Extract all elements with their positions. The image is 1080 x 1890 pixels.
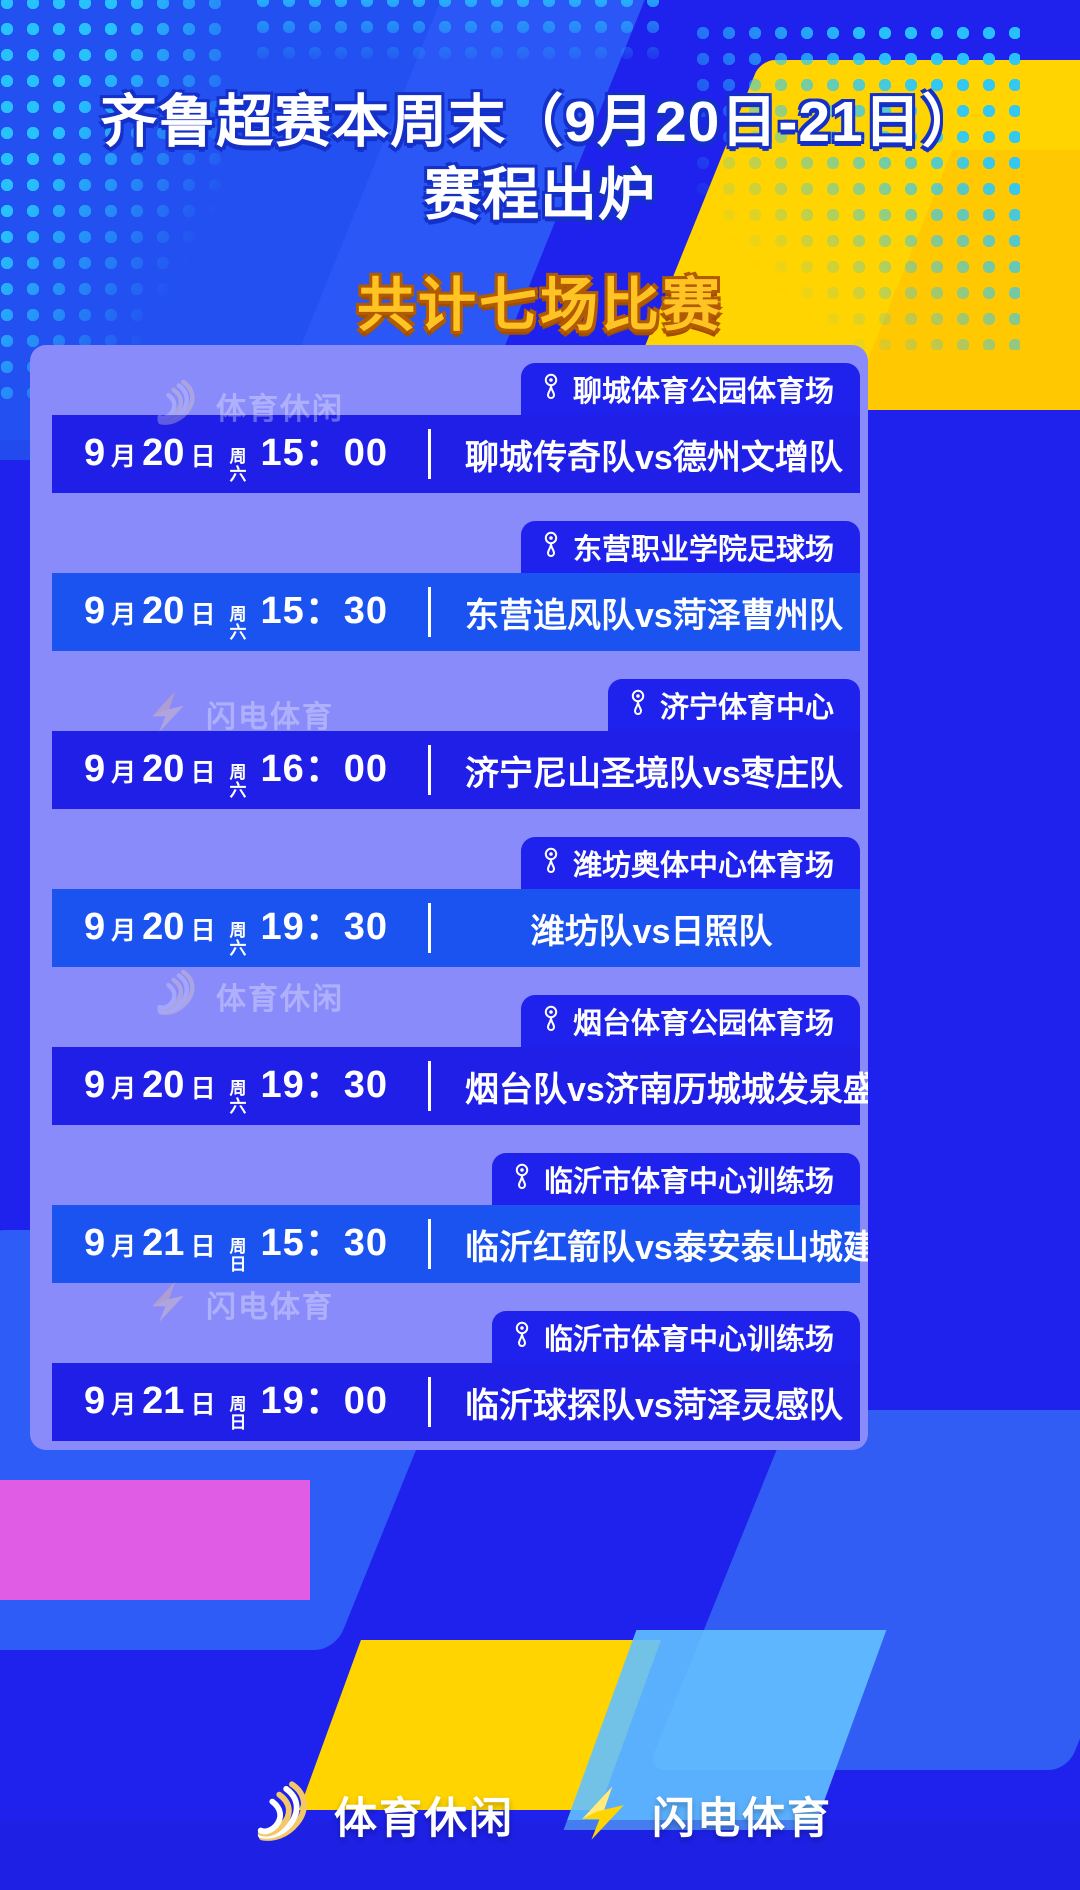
- match-row: 潍坊奥体中心体育场9月20日周六19：30潍坊队vs日照队: [30, 837, 868, 995]
- weekday-char-2: 六: [229, 940, 246, 958]
- venue-tag: 聊城体育公园体育场: [521, 363, 860, 415]
- venue-tag: 临沂市体育中心训练场: [492, 1311, 860, 1363]
- weekday-badge: 周六: [229, 606, 246, 642]
- location-pin-icon: [539, 1002, 563, 1040]
- day-unit: 日: [190, 911, 215, 947]
- weekday-char-2: 六: [229, 624, 246, 642]
- weekday-badge: 周六: [229, 764, 246, 800]
- match-row: 济宁体育中心9月20日周六16：00济宁尼山圣境队vs枣庄队: [30, 679, 868, 837]
- weekday-char-1: 周: [229, 606, 246, 624]
- month-unit: 月: [111, 437, 136, 473]
- matchup-label: 东营追风队vs菏泽曹州队: [465, 588, 865, 637]
- kickoff-time: 19：30: [260, 895, 388, 950]
- vertical-divider: [428, 1377, 431, 1427]
- match-datetime: 9月20日周六15：00: [52, 421, 388, 487]
- weekday-char-1: 周: [229, 1080, 246, 1098]
- vertical-divider: [428, 1061, 431, 1111]
- lightning-bolt-icon: [566, 1775, 640, 1854]
- match-datetime: 9月21日周日15：30: [52, 1211, 388, 1277]
- kickoff-time: 15：30: [260, 1211, 388, 1266]
- weekday-badge: 周六: [229, 1080, 246, 1116]
- match-datetime: 9月20日周六16：00: [52, 737, 388, 803]
- kickoff-time: 15：00: [260, 421, 388, 476]
- match-bar: 9月20日周六19：30潍坊队vs日照队: [52, 889, 860, 967]
- match-row: 临沂市体育中心训练场9月21日周日15：30临沂红箭队vs泰安泰山城建队: [30, 1153, 868, 1311]
- venue-label: 烟台体育公园体育场: [573, 1000, 834, 1042]
- weekday-badge: 周日: [229, 1238, 246, 1274]
- vertical-divider: [428, 1219, 431, 1269]
- venue-label: 聊城体育公园体育场: [573, 368, 834, 410]
- weekday-char-1: 周: [229, 922, 246, 940]
- venue-label: 临沂市体育中心训练场: [544, 1316, 834, 1358]
- day-number: 21: [142, 1222, 184, 1265]
- match-row: 临沂市体育中心训练场9月21日周日19：00临沂球探队vs菏泽灵感队: [30, 1311, 868, 1450]
- location-pin-icon: [539, 844, 563, 882]
- ribbon-swirl-icon: [248, 1775, 322, 1854]
- matchup-label: 聊城传奇队vs德州文增队: [465, 430, 865, 479]
- match-datetime: 9月20日周六19：30: [52, 1053, 388, 1119]
- venue-label: 济宁体育中心: [660, 684, 834, 726]
- schedule-panel: 聊城体育公园体育场9月20日周六15：00聊城传奇队vs德州文增队东营职业学院足…: [30, 345, 868, 1450]
- month-number: 9: [84, 1222, 105, 1265]
- day-number: 20: [142, 748, 184, 791]
- footer-logos: 体育休闲闪电体育: [0, 1775, 1080, 1854]
- venue-tag: 临沂市体育中心训练场: [492, 1153, 860, 1205]
- kickoff-time: 16：00: [260, 737, 388, 792]
- poster-header: 齐鲁超赛本周末（9月20日-21日） 赛程出炉 共计七场比赛: [0, 0, 1080, 342]
- matchup-label: 济宁尼山圣境队vs枣庄队: [465, 746, 865, 795]
- day-unit: 日: [190, 1227, 215, 1263]
- pink-accent-block: [0, 1480, 310, 1600]
- location-pin-icon: [539, 370, 563, 408]
- month-unit: 月: [111, 595, 136, 631]
- page-title-line-2: 赛程出炉: [0, 159, 1080, 232]
- kickoff-time: 19：00: [260, 1369, 388, 1424]
- month-number: 9: [84, 1064, 105, 1107]
- location-pin-icon: [510, 1318, 534, 1356]
- weekday-char-1: 周: [229, 1396, 246, 1414]
- day-number: 20: [142, 590, 184, 633]
- matchup-label: 临沂球探队vs菏泽灵感队: [465, 1378, 865, 1427]
- weekday-badge: 周六: [229, 922, 246, 958]
- month-unit: 月: [111, 753, 136, 789]
- venue-tag: 济宁体育中心: [608, 679, 860, 731]
- weekday-char-2: 六: [229, 466, 246, 484]
- match-row: 东营职业学院足球场9月20日周六15：30东营追风队vs菏泽曹州队: [30, 521, 868, 679]
- day-unit: 日: [190, 1069, 215, 1105]
- day-unit: 日: [190, 595, 215, 631]
- month-unit: 月: [111, 1385, 136, 1421]
- day-number: 20: [142, 906, 184, 949]
- day-unit: 日: [190, 437, 215, 473]
- brand-logo: 闪电体育: [566, 1775, 832, 1854]
- weekday-char-1: 周: [229, 1238, 246, 1256]
- weekday-badge: 周六: [229, 448, 246, 484]
- venue-label: 临沂市体育中心训练场: [544, 1158, 834, 1200]
- month-number: 9: [84, 748, 105, 791]
- match-datetime: 9月20日周六19：30: [52, 895, 388, 961]
- month-unit: 月: [111, 1069, 136, 1105]
- venue-tag: 烟台体育公园体育场: [521, 995, 860, 1047]
- weekday-char-2: 日: [229, 1256, 246, 1274]
- match-bar: 9月20日周六15：30东营追风队vs菏泽曹州队: [52, 573, 860, 651]
- month-unit: 月: [111, 1227, 136, 1263]
- vertical-divider: [428, 745, 431, 795]
- weekday-char-1: 周: [229, 448, 246, 466]
- matchup-label: 烟台队vs济南历城城发泉盛队: [465, 1062, 868, 1111]
- day-unit: 日: [190, 753, 215, 789]
- brand-logo: 体育休闲: [248, 1775, 514, 1854]
- month-number: 9: [84, 590, 105, 633]
- month-number: 9: [84, 432, 105, 475]
- match-datetime: 9月20日周六15：30: [52, 579, 388, 645]
- day-number: 20: [142, 1064, 184, 1107]
- weekday-char-2: 六: [229, 782, 246, 800]
- match-row: 聊城体育公园体育场9月20日周六15：00聊城传奇队vs德州文增队: [30, 363, 868, 521]
- location-pin-icon: [539, 528, 563, 566]
- weekday-char-2: 日: [229, 1414, 246, 1432]
- match-bar: 9月21日周日15：30临沂红箭队vs泰安泰山城建队: [52, 1205, 860, 1283]
- month-number: 9: [84, 906, 105, 949]
- match-row: 烟台体育公园体育场9月20日周六19：30烟台队vs济南历城城发泉盛队: [30, 995, 868, 1153]
- location-pin-icon: [626, 686, 650, 724]
- day-number: 20: [142, 432, 184, 475]
- day-number: 21: [142, 1380, 184, 1423]
- vertical-divider: [428, 429, 431, 479]
- vertical-divider: [428, 587, 431, 637]
- match-bar: 9月21日周日19：00临沂球探队vs菏泽灵感队: [52, 1363, 860, 1441]
- month-number: 9: [84, 1380, 105, 1423]
- match-bar: 9月20日周六15：00聊城传奇队vs德州文增队: [52, 415, 860, 493]
- match-datetime: 9月21日周日19：00: [52, 1369, 388, 1435]
- venue-label: 潍坊奥体中心体育场: [573, 842, 834, 884]
- venue-label: 东营职业学院足球场: [573, 526, 834, 568]
- brand-label: 体育休闲: [334, 1784, 514, 1846]
- match-bar: 9月20日周六16：00济宁尼山圣境队vs枣庄队: [52, 731, 860, 809]
- page-subtitle: 共计七场比赛: [0, 258, 1080, 342]
- venue-tag: 东营职业学院足球场: [521, 521, 860, 573]
- weekday-char-2: 六: [229, 1098, 246, 1116]
- weekday-badge: 周日: [229, 1396, 246, 1432]
- day-unit: 日: [190, 1385, 215, 1421]
- page-title-line-1: 齐鲁超赛本周末（9月20日-21日）: [0, 86, 1080, 159]
- location-pin-icon: [510, 1160, 534, 1198]
- matchup-label: 潍坊队vs日照队: [465, 904, 860, 953]
- match-bar: 9月20日周六19：30烟台队vs济南历城城发泉盛队: [52, 1047, 860, 1125]
- weekday-char-1: 周: [229, 764, 246, 782]
- month-unit: 月: [111, 911, 136, 947]
- kickoff-time: 15：30: [260, 579, 388, 634]
- vertical-divider: [428, 903, 431, 953]
- kickoff-time: 19：30: [260, 1053, 388, 1108]
- brand-label: 闪电体育: [652, 1784, 832, 1846]
- matchup-label: 临沂红箭队vs泰安泰山城建队: [465, 1220, 868, 1269]
- venue-tag: 潍坊奥体中心体育场: [521, 837, 860, 889]
